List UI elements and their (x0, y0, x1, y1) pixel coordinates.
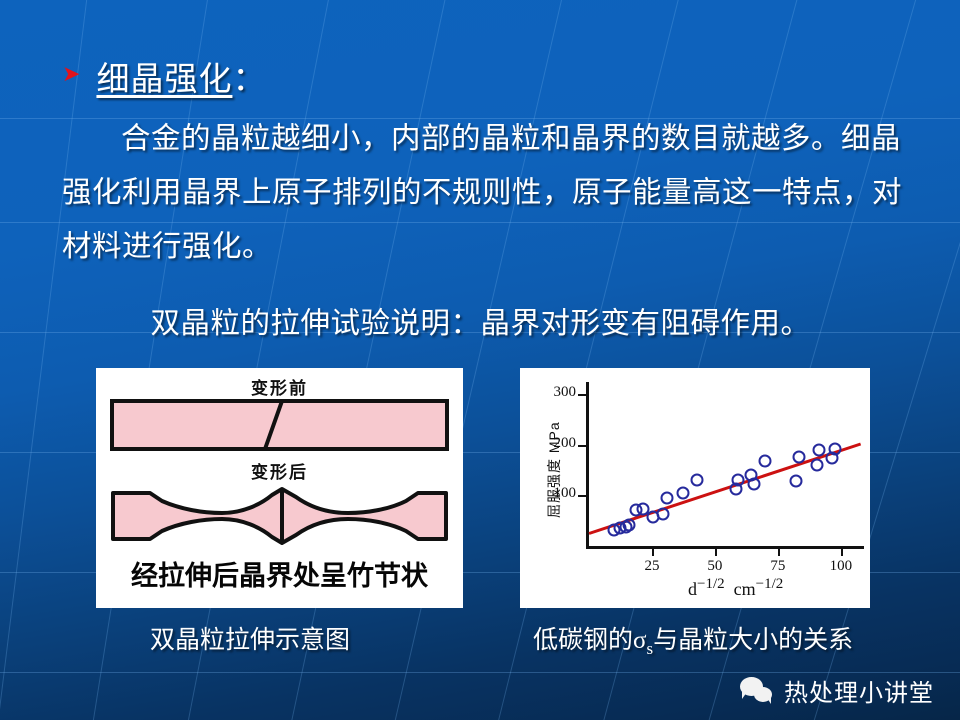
chart-data-point (759, 455, 772, 468)
chart-data-point (657, 507, 670, 520)
grid-meridian-line (281, 0, 456, 720)
chart-x-tick-label: 75 (763, 558, 793, 575)
figure-right-panel: 屈服强度 MPa d−1/2 cm−1/2 100200300255075100 (520, 368, 870, 608)
chart-data-point (813, 443, 826, 456)
figure-left-panel: 变形前 变形后 经拉伸后晶界处呈竹节状 (96, 368, 463, 608)
scatter-chart: 屈服强度 MPa d−1/2 cm−1/2 100200300255075100 (520, 368, 870, 608)
chart-y-tick (578, 394, 589, 396)
chart-y-tick-label: 300 (546, 384, 576, 401)
chart-y-tick (578, 495, 589, 497)
bullet-heading: ➤ 细晶强化： (62, 52, 266, 100)
chart-x-tick (841, 546, 843, 556)
chart-x-tick-label: 100 (826, 558, 856, 575)
heading-colon: ： (232, 62, 266, 98)
bullet-arrow-icon: ➤ (62, 64, 80, 86)
watermark-footer: 热处理小讲堂 (740, 673, 934, 708)
chart-x-tick (715, 546, 717, 556)
grid-meridian-line (0, 0, 94, 720)
chart-y-axis (586, 382, 589, 546)
grid-meridian-line (592, 0, 809, 720)
grid-meridian-line (384, 0, 573, 720)
chart-data-point (793, 451, 806, 464)
chart-x-tick (652, 546, 654, 556)
label-bamboo-node: 经拉伸后晶界处呈竹节状 (96, 554, 463, 593)
grid-meridian-line (85, 0, 217, 720)
specimen-before-svg (110, 399, 449, 451)
label-after-deformation: 变形后 (96, 458, 463, 483)
chart-data-point (828, 443, 841, 456)
specimen-after-deformation (96, 483, 463, 554)
watermark-text: 热处理小讲堂 (784, 673, 934, 708)
chart-data-point (623, 518, 636, 531)
label-before-deformation: 变形前 (96, 374, 463, 399)
caption-right-suffix: 与晶粒大小的关系 (653, 627, 853, 654)
slide-canvas: ➤ 细晶强化： 合金的晶粒越细小，内部的晶粒和晶界的数目就越多。细晶强化利用晶界… (0, 0, 960, 720)
wechat-icon (740, 677, 774, 705)
caption-left-figure: 双晶粒拉伸示意图 (150, 620, 350, 656)
chart-data-point (691, 473, 704, 486)
chart-data-point (731, 473, 744, 486)
grid-meridian-line (178, 0, 338, 720)
paragraph-two: 双晶粒的拉伸试验说明：晶界对形变有阻碍作用。 (62, 300, 912, 348)
chart-y-tick-label: 200 (546, 435, 576, 452)
specimen-after-svg (110, 483, 449, 549)
chart-data-point (677, 486, 690, 499)
grid-meridian-line (487, 0, 690, 720)
chart-data-point (789, 475, 802, 488)
chart-x-tick-label: 50 (700, 558, 730, 575)
chart-data-point (810, 459, 823, 472)
chart-y-tick (578, 445, 589, 447)
chart-x-axis (586, 546, 864, 549)
chart-x-tick-label: 25 (637, 558, 667, 575)
grid-meridian-line (697, 0, 928, 720)
heading-underlined-text: 细晶强化 (96, 62, 232, 98)
background-globe-grid (0, 0, 960, 720)
caption-right-figure: 低碳钢的σs与晶粒大小的关系 (533, 620, 853, 659)
paragraph-one: 合金的晶粒越细小，内部的晶粒和晶界的数目就越多。细晶强化利用晶界上原子排列的不规… (62, 112, 912, 274)
chart-y-tick-label: 100 (546, 485, 576, 502)
heading-text: 细晶强化： (96, 52, 266, 100)
chart-x-tick (778, 546, 780, 556)
caption-right-prefix: 低碳钢的σ (533, 627, 646, 654)
chart-data-point (661, 492, 674, 505)
grid-meridian-line (802, 0, 960, 720)
specimen-before-deformation (96, 399, 463, 456)
chart-data-point (747, 478, 760, 491)
chart-x-axis-label: d−1/2 cm−1/2 (688, 576, 783, 600)
